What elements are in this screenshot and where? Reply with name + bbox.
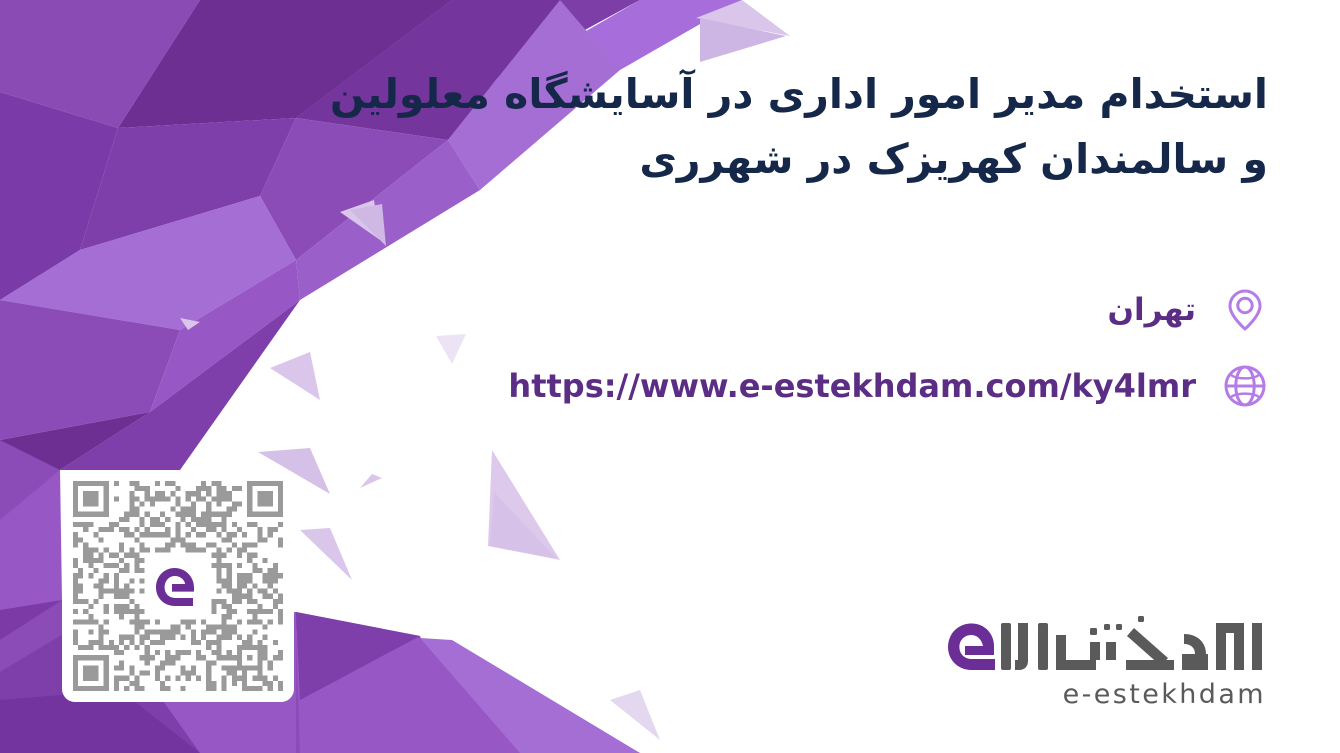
location-value: تهران <box>1108 292 1196 328</box>
brand-wordmark-latin: e-estekhdam <box>1063 679 1266 710</box>
polygon-shape <box>0 0 200 128</box>
polygon-shape <box>490 492 556 558</box>
page-title: استخدام مدیر امور اداری در آسایشگاه معلو… <box>338 62 1268 192</box>
polygon-shape <box>150 260 300 412</box>
globe-icon <box>1222 363 1268 409</box>
polygon-shape <box>0 600 62 700</box>
polygon-shape <box>296 612 470 753</box>
title-line-1: استخدام مدیر امور اداری در آسایشگاه معلو… <box>338 62 1268 127</box>
polygon-shape <box>700 18 786 62</box>
title-line-2: و سالمندان کهریزک در شهرری <box>338 127 1268 192</box>
brand-wordmark-farsi <box>938 614 1268 680</box>
polygon-shape <box>270 352 320 400</box>
polygon-shape <box>0 196 296 330</box>
polygon-shape <box>300 528 352 580</box>
url-value[interactable]: https://www.e-estekhdam.com/ky4lmr <box>508 367 1196 405</box>
polygon-shape <box>0 470 62 640</box>
info-list: تهران https://www.e-estekhdam.com/ky4lmr <box>338 272 1268 424</box>
polygon-shape <box>488 450 560 560</box>
polygon-shape <box>340 200 380 240</box>
polygon-shape <box>80 118 296 250</box>
polygon-shape <box>420 638 640 753</box>
job-ad-card: استخدام مدیر امور اداری در آسایشگاه معلو… <box>0 0 1340 753</box>
polygon-shape <box>0 440 60 560</box>
polygon-shape <box>610 690 660 740</box>
polygon-shape <box>60 300 300 470</box>
brand-logo: e-estekhdam <box>938 614 1268 710</box>
polygon-shape <box>0 600 62 753</box>
polygon-shape <box>360 474 382 488</box>
polygon-shape <box>296 630 640 753</box>
polygon-shape <box>180 318 200 330</box>
qr-code[interactable] <box>62 470 294 702</box>
info-row-location: تهران <box>338 272 1268 348</box>
polygon-shape <box>0 300 180 440</box>
info-row-url[interactable]: https://www.e-estekhdam.com/ky4lmr <box>338 348 1268 424</box>
qr-center-logo <box>145 553 211 619</box>
polygon-shape <box>296 612 420 700</box>
polygon-shape <box>0 92 118 300</box>
polygon-shape <box>696 0 790 36</box>
location-pin-icon <box>1222 287 1268 333</box>
polygon-shape <box>350 204 386 246</box>
qr-canvas <box>73 481 283 691</box>
